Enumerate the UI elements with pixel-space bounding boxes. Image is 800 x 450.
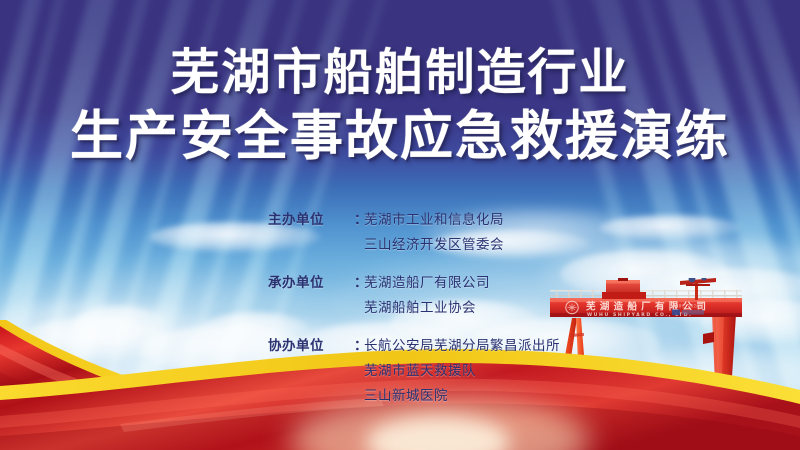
organizer-row: 协办单位 ： 芜湖市蓝天救援队 xyxy=(268,365,560,390)
organizer-colon: ： xyxy=(354,277,364,291)
organizer-value: 芜湖市蓝天救援队 xyxy=(364,365,476,379)
organizer-value: 三山新城医院 xyxy=(364,390,448,404)
organizer-colon: ： xyxy=(354,340,364,354)
organizer-group-host: 主办单位 ： 芜湖市工业和信息化局 主办单位 ： 三山经济开发区管委会 xyxy=(268,214,560,264)
crane-badge-icon xyxy=(672,310,680,316)
crane-capacity-label: 480t-102m xyxy=(673,304,699,309)
organizer-row: 协办单位 ： 长航公安局芜湖分局繁昌派出所 xyxy=(268,340,560,365)
organizer-value: 芜湖船舶工业协会 xyxy=(364,302,476,316)
organizer-label-host: 主办单位 xyxy=(268,214,354,228)
organizer-label-coorganizer: 协办单位 xyxy=(268,340,354,354)
organizer-value: 长航公安局芜湖分局繁昌派出所 xyxy=(364,340,560,354)
organizer-row: 承办单位 ： 芜湖造船厂有限公司 xyxy=(268,277,560,302)
organizer-value: 芜湖市工业和信息化局 xyxy=(364,214,504,228)
organizer-group-coorganizer: 协办单位 ： 长航公安局芜湖分局繁昌派出所 协办单位 ： 芜湖市蓝天救援队 协办… xyxy=(268,340,560,415)
organizer-group-organizer: 承办单位 ： 芜湖造船厂有限公司 承办单位 ： 芜湖船舶工业协会 xyxy=(268,277,560,327)
organizer-colon: ： xyxy=(354,214,364,228)
organizer-row: 承办单位 ： 芜湖船舶工业协会 xyxy=(268,302,560,327)
organizer-label-organizer: 承办单位 xyxy=(268,277,354,291)
poster-canvas: 芜湖造船厂有限公司 WUHU SHIPYARD CO., LTD. 480t-1… xyxy=(0,0,800,450)
organizer-row: 主办单位 ： 芜湖市工业和信息化局 xyxy=(268,214,560,239)
organizer-row: 协办单位 ： 三山新城医院 xyxy=(268,390,560,415)
organizer-value: 芜湖造船厂有限公司 xyxy=(364,277,490,291)
organizer-credits: 主办单位 ： 芜湖市工业和信息化局 主办单位 ： 三山经济开发区管委会 承办单位… xyxy=(268,214,560,428)
organizer-row: 主办单位 ： 三山经济开发区管委会 xyxy=(268,239,560,264)
organizer-value: 三山经济开发区管委会 xyxy=(364,239,504,253)
